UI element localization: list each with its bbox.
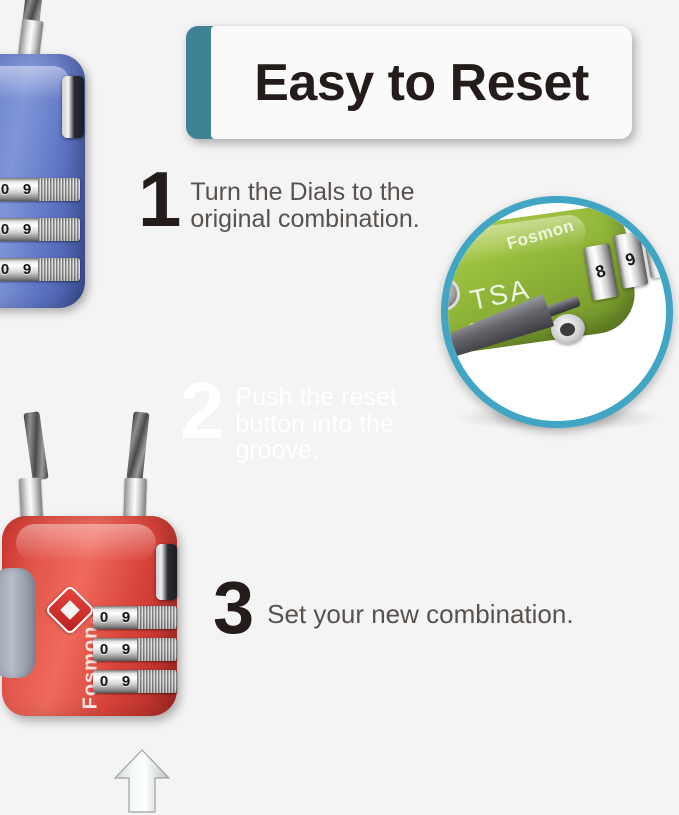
- step-text-line: Turn the Dials to the: [190, 178, 414, 206]
- step-number: 3: [213, 578, 251, 639]
- dial-digit: 0: [0, 221, 16, 238]
- step-text-line: original combination.: [190, 205, 419, 233]
- dial-digit: 9: [115, 673, 137, 690]
- page-title: Easy to Reset: [254, 53, 589, 113]
- dial-knurl: [38, 178, 80, 201]
- dial-digit: 9: [16, 181, 38, 198]
- step-text: Set your new combination.: [267, 601, 573, 629]
- release-button-blue: [62, 76, 84, 138]
- dial-digit: 9: [16, 261, 38, 278]
- dial-digit: 9: [16, 221, 38, 238]
- dial-knurl: [137, 670, 177, 693]
- detail-inset-circle: Fosmon TSA 007 8 9 8: [441, 196, 673, 428]
- release-button-red: [156, 544, 177, 600]
- dial-digit: 8: [651, 239, 666, 261]
- dial-knurl: [137, 606, 177, 629]
- combination-dial[interactable]: 0 9: [0, 258, 80, 281]
- brand-label-red: Fosmon: [80, 613, 103, 723]
- lock-side-panel-red: [0, 568, 35, 678]
- inset-clip: Fosmon TSA 007 8 9 8: [448, 203, 666, 421]
- dial-digit: 0: [93, 673, 115, 690]
- combination-dial[interactable]: 0 9: [93, 606, 177, 629]
- dial-digit: 9: [115, 641, 137, 658]
- arrow-up-icon: [113, 748, 171, 814]
- combination-dial[interactable]: 0 9: [93, 670, 177, 693]
- step-text: Turn the Dials to the original combinati…: [190, 179, 419, 232]
- lock-highlight-blue: [0, 66, 70, 100]
- title-plate: Easy to Reset: [211, 26, 632, 139]
- step-3: 3 Set your new combination.: [213, 578, 574, 639]
- lock-blue: ® Fosmon 0 9 0 9 0 9: [0, 10, 148, 335]
- cable-red-right: [126, 411, 149, 480]
- dial-digit: 8: [593, 261, 608, 283]
- dial-digit: 9: [115, 609, 137, 626]
- combination-dial[interactable]: 0 9: [0, 178, 80, 201]
- step-text-line: button into the: [236, 410, 394, 438]
- title-banner: Easy to Reset: [186, 26, 632, 139]
- step-text-line: Set your new combination.: [267, 599, 573, 629]
- combination-dial[interactable]: 0 9: [93, 638, 177, 661]
- step-1: 1 Turn the Dials to the original combina…: [138, 168, 420, 232]
- dial-digit: 0: [93, 609, 115, 626]
- step-number: 1: [138, 168, 178, 232]
- dial-digit: 0: [93, 641, 115, 658]
- dial-digit: 0: [0, 261, 16, 278]
- dial-knurl: [38, 218, 80, 241]
- lock-highlight-red: [16, 524, 156, 562]
- step-text: Push the reset button into the groove.: [236, 384, 397, 464]
- dial-digit: 0: [0, 181, 16, 198]
- dial-knurl: [38, 258, 80, 281]
- step-text-line: Push the reset: [236, 383, 397, 411]
- dial-digit: 9: [623, 249, 638, 271]
- cable-red-left: [23, 411, 48, 481]
- lock-red: ® Fosmon 0 9 0 9 0 9: [0, 420, 220, 750]
- tsa-diamond-core: [60, 600, 80, 620]
- combination-dial[interactable]: 0 9: [0, 218, 80, 241]
- dial-knurl: [137, 638, 177, 661]
- step-text-line: groove.: [236, 436, 319, 464]
- infographic-page: Easy to Reset ® Fosmon 0 9 0 9 0 9: [0, 0, 679, 815]
